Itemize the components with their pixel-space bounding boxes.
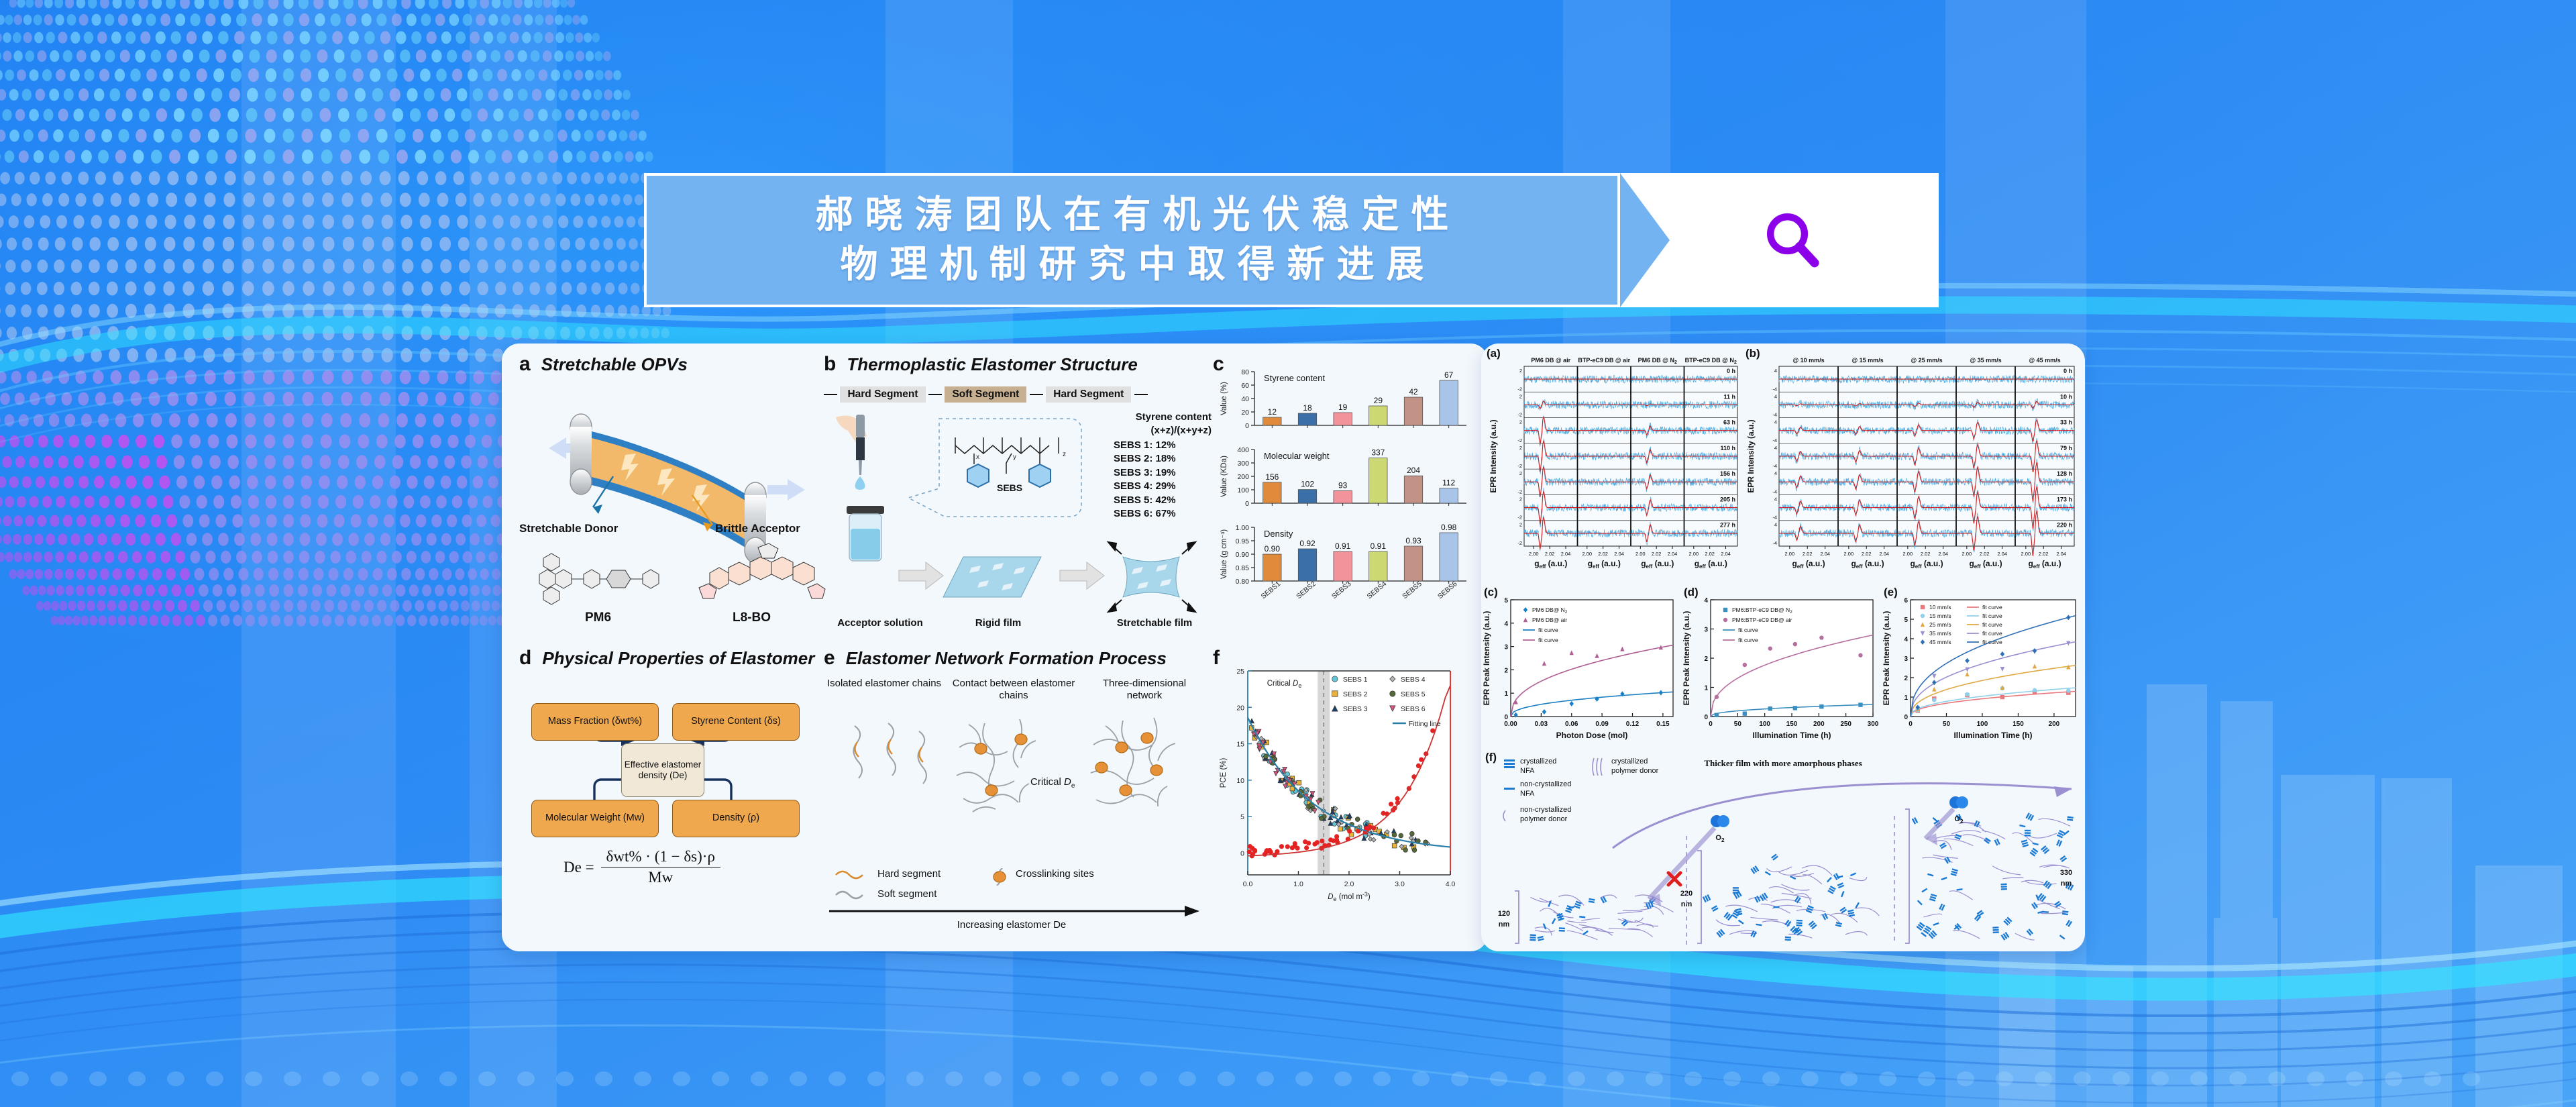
svg-text:2.04: 2.04 <box>1721 551 1731 557</box>
svg-text:3: 3 <box>1904 655 1908 663</box>
svg-text:2.02: 2.02 <box>1862 551 1872 557</box>
svg-text:SEBS 3: SEBS 3 <box>1343 705 1368 713</box>
svg-text:0: 0 <box>1245 500 1249 508</box>
svg-text:67: 67 <box>1444 370 1454 380</box>
svg-text:0.80: 0.80 <box>1236 578 1250 586</box>
svg-text:50: 50 <box>1734 721 1742 728</box>
svg-text:1.00: 1.00 <box>1236 524 1250 532</box>
svg-text:2.04: 2.04 <box>1561 551 1571 557</box>
svg-text:SEBS2: SEBS2 <box>1295 580 1318 600</box>
svg-text:63 h: 63 h <box>1723 419 1735 426</box>
svg-text:crystallized: crystallized <box>1611 757 1648 766</box>
svg-text:60: 60 <box>1241 382 1249 390</box>
svg-text:Illumination Time (h): Illumination Time (h) <box>1752 731 1831 740</box>
process-step-label: Stretchable film <box>1097 617 1212 629</box>
svg-text:fit curve: fit curve <box>1982 613 2002 619</box>
svg-text:0: 0 <box>1245 422 1249 430</box>
box-molecular-weight: Molecular Weight (Mw) <box>531 800 659 837</box>
svg-text:156: 156 <box>1265 472 1279 482</box>
svg-text:EPR Peak Intensity (a.u.): EPR Peak Intensity (a.u.) <box>1882 611 1891 706</box>
svg-text:277 h: 277 h <box>1720 522 1735 529</box>
svg-text:@ 25 mm/s: @ 25 mm/s <box>1911 357 1942 364</box>
panel-c-sebs-properties: c 020406080Value (%)Styrene content12181… <box>1213 353 1474 641</box>
svg-text:6: 6 <box>1904 597 1908 604</box>
legend-soft-segment: Soft segment <box>877 888 936 900</box>
svg-text:156 h: 156 h <box>1720 470 1735 477</box>
svg-text:2.02: 2.02 <box>1705 551 1715 557</box>
segment-dash-icon <box>1030 394 1043 395</box>
svg-text:-2: -2 <box>1517 488 1522 494</box>
svg-text:4: 4 <box>1904 636 1908 643</box>
svg-text:-4: -4 <box>1772 488 1777 494</box>
svg-text:1: 1 <box>1504 690 1508 698</box>
svg-text:SEBS5: SEBS5 <box>1401 580 1424 600</box>
svg-text:geff (a.u.): geff (a.u.) <box>2028 559 2061 570</box>
label-brittle-acceptor: Brittle Acceptor <box>715 522 836 535</box>
svg-text:BTP-eC9 DB @ air: BTP-eC9 DB @ air <box>1578 357 1630 364</box>
svg-text:2.00: 2.00 <box>1689 551 1699 557</box>
crosslinking-site-icon <box>990 868 1010 886</box>
svg-text:0.03: 0.03 <box>1535 721 1548 728</box>
svg-text:De (mol m-3): De (mol m-3) <box>1328 891 1371 902</box>
svg-text:4.0: 4.0 <box>1446 880 1456 888</box>
svg-text:EPR Peak Intensity (a.u.): EPR Peak Intensity (a.u.) <box>1682 611 1691 706</box>
svg-text:2.04: 2.04 <box>1614 551 1624 557</box>
svg-text:0: 0 <box>1240 849 1244 857</box>
figure-card-left: a Stretchable OPVs <box>502 344 1488 951</box>
svg-text:5: 5 <box>1240 813 1244 821</box>
network-stage-caption: Isolated elastomer chains <box>824 678 945 690</box>
svg-text:2.04: 2.04 <box>1668 551 1678 557</box>
svg-text:2.04: 2.04 <box>2056 551 2066 557</box>
svg-text:0.91: 0.91 <box>1335 541 1351 551</box>
svg-text:4: 4 <box>1774 522 1777 528</box>
svg-text:200: 200 <box>1237 473 1249 481</box>
segment-dash-icon <box>1134 394 1148 395</box>
svg-text:110 h: 110 h <box>1720 445 1735 452</box>
svg-text:0.98: 0.98 <box>1441 523 1457 532</box>
sebs-styrene-list: SEBS 1: 12% SEBS 2: 18% SEBS 3: 19% SEBS… <box>1114 439 1176 521</box>
svg-text:2: 2 <box>1519 419 1522 425</box>
title-line-2: 物理机制研究中取得新进展 <box>804 240 1461 290</box>
right-panel-c-photon-dose: (c)0.000.030.060.090.120.15012345Photon … <box>1481 585 1682 751</box>
svg-text:-2: -2 <box>1517 386 1522 392</box>
svg-text:0.95: 0.95 <box>1236 537 1250 545</box>
svg-text:(b): (b) <box>1746 347 1760 360</box>
box-effective-elastomer-density: Effective elastomer density (De) <box>621 743 704 797</box>
svg-text:NFA: NFA <box>1520 790 1535 798</box>
svg-text:300: 300 <box>1868 721 1879 728</box>
svg-text:4: 4 <box>1774 393 1777 399</box>
svg-text:2.00: 2.00 <box>1903 551 1913 557</box>
svg-text:(d): (d) <box>1684 586 1699 598</box>
svg-text:@ 15 mm/s: @ 15 mm/s <box>1851 357 1883 364</box>
svg-text:SEBS3: SEBS3 <box>1330 580 1353 600</box>
panel-e-letter: e <box>824 647 835 670</box>
svg-text:fit curve: fit curve <box>1738 637 1758 643</box>
svg-text:Value (%): Value (%) <box>1220 382 1228 415</box>
svg-text:2.04: 2.04 <box>1820 551 1830 557</box>
svg-text:2: 2 <box>1519 368 1522 374</box>
right-panel-b-epr-grid: (b)@ 10 mm/s@ 15 mm/s@ 25 mm/s@ 35 mm/s@… <box>1744 345 2084 588</box>
svg-text:1: 1 <box>1904 694 1908 702</box>
svg-text:2.02: 2.02 <box>1652 551 1662 557</box>
equation-de: De = δwt% · (1 − δs)·ρ Mw <box>563 848 720 886</box>
svg-text:12: 12 <box>1268 407 1277 417</box>
svg-text:2.02: 2.02 <box>1980 551 1990 557</box>
svg-text:0.15: 0.15 <box>1656 721 1670 728</box>
svg-text:0: 0 <box>1504 714 1508 721</box>
svg-text:4: 4 <box>1774 496 1777 502</box>
svg-text:4: 4 <box>1774 368 1777 374</box>
svg-text:25: 25 <box>1236 668 1244 676</box>
svg-text:-4: -4 <box>1772 386 1777 392</box>
sebs-list-item: SEBS 5: 42% <box>1114 494 1176 507</box>
molecule-structures <box>519 538 835 625</box>
title-banner: 郝晓涛团队在有机光伏稳定性 物理机制研究中取得新进展 <box>644 173 1939 307</box>
svg-text:112: 112 <box>1442 478 1455 488</box>
svg-text:PM6:BTP-eC9 DB@ air: PM6:BTP-eC9 DB@ air <box>1732 617 1792 623</box>
svg-text:y: y <box>1013 454 1016 461</box>
svg-text:29: 29 <box>1374 396 1383 405</box>
svg-text:45 mm/s: 45 mm/s <box>1929 639 1951 645</box>
svg-text:0.85: 0.85 <box>1236 564 1250 572</box>
svg-text:4: 4 <box>1504 621 1508 628</box>
panel-a-title: Stretchable OPVs <box>541 354 688 375</box>
svg-text:0: 0 <box>1904 714 1908 721</box>
label-pm6: PM6 <box>585 611 611 625</box>
label-l8bo: L8-BO <box>733 611 771 625</box>
svg-text:geff (a.u.): geff (a.u.) <box>1588 559 1621 570</box>
right-panel-a-epr-grid: (a)PM6 DB @ airBTP-eC9 DB @ airPM6 DB @ … <box>1484 345 1746 588</box>
right-panel-d-illumination: (d)05010015020025030001234Illumination T… <box>1681 585 1882 751</box>
svg-text:2: 2 <box>1904 675 1908 682</box>
svg-text:35 mm/s: 35 mm/s <box>1929 630 1951 637</box>
svg-text:crystallized: crystallized <box>1520 757 1556 766</box>
svg-text:O2: O2 <box>1715 834 1725 843</box>
svg-text:0.90: 0.90 <box>1236 551 1250 559</box>
svg-text:50: 50 <box>1943 721 1951 728</box>
network-stage-caption: Contact between elastomer chains <box>950 678 1077 702</box>
panel-c-bar-charts: 020406080Value (%)Styrene content1218192… <box>1217 368 1472 636</box>
label-stretchable-donor: Stretchable Donor <box>519 522 647 535</box>
box-density: Density (ρ) <box>672 800 800 837</box>
svg-text:1: 1 <box>1704 685 1708 692</box>
svg-text:150: 150 <box>2012 721 2024 728</box>
svg-text:2.02: 2.02 <box>1545 551 1555 557</box>
svg-text:250: 250 <box>1840 721 1851 728</box>
svg-text:18: 18 <box>1303 403 1312 413</box>
svg-text:-2: -2 <box>1517 437 1522 443</box>
svg-text:4: 4 <box>1704 597 1708 604</box>
panel-b-letter: b <box>824 353 836 376</box>
svg-text:2.00: 2.00 <box>2021 551 2031 557</box>
svg-text:Thicker film with more amorpho: Thicker film with more amorphous phases <box>1704 758 1862 768</box>
svg-text:11 h: 11 h <box>1723 393 1735 400</box>
styrene-head-line1: Styrene content <box>1092 411 1212 424</box>
process-step-label: Rigid film <box>951 617 1045 629</box>
svg-text:z: z <box>1063 451 1066 458</box>
right-panel-f-film-schematic: (f)crystallizedNFAnon-crystallizedNFAnon… <box>1481 749 2085 950</box>
svg-text:-4: -4 <box>1772 412 1777 418</box>
soft-segment-icon <box>836 892 863 898</box>
svg-text:2: 2 <box>1519 470 1522 476</box>
svg-text:2.04: 2.04 <box>1997 551 2007 557</box>
svg-text:5: 5 <box>1504 597 1508 604</box>
search-icon[interactable] <box>1762 209 1825 272</box>
svg-text:120: 120 <box>1498 910 1510 918</box>
svg-text:150: 150 <box>1786 721 1798 728</box>
svg-text:2.02: 2.02 <box>1921 551 1931 557</box>
svg-text:2.0: 2.0 <box>1344 880 1354 888</box>
svg-text:nm: nm <box>1499 920 1510 929</box>
svg-text:19: 19 <box>1338 403 1348 412</box>
svg-text:fit curve: fit curve <box>1982 639 2002 645</box>
segment-legend-icons <box>833 867 880 907</box>
svg-text:Critical De: Critical De <box>1267 680 1302 689</box>
svg-text:SEBS 2: SEBS 2 <box>1343 690 1368 698</box>
sebs-list-item: SEBS 6: 67% <box>1114 507 1176 521</box>
svg-text:geff (a.u.): geff (a.u.) <box>1792 559 1825 570</box>
panel-a-stretchable-opvs: a Stretchable OPVs <box>519 353 835 641</box>
panel-b-thermoplastic-elastomer: b Thermoplastic Elastomer Structure Hard… <box>824 353 1213 641</box>
svg-text:Value (g cm⁻³): Value (g cm⁻³) <box>1220 529 1228 579</box>
panel-e-network-graphic: Critical De <box>824 711 1213 879</box>
svg-text:Illumination Time (h): Illumination Time (h) <box>1953 731 2032 740</box>
svg-text:300: 300 <box>1237 460 1249 468</box>
svg-text:geff (a.u.): geff (a.u.) <box>1851 559 1884 570</box>
svg-text:geff (a.u.): geff (a.u.) <box>1969 559 2002 570</box>
svg-text:100: 100 <box>1759 721 1770 728</box>
svg-text:0.90: 0.90 <box>1265 544 1281 553</box>
legend-hard-segment: Hard segment <box>877 868 941 880</box>
svg-text:Styrene content: Styrene content <box>1264 373 1325 383</box>
svg-text:330: 330 <box>2060 869 2072 877</box>
svg-text:EPR Intensity (a.u.): EPR Intensity (a.u.) <box>1746 419 1756 492</box>
svg-text:10: 10 <box>1236 777 1244 785</box>
svg-text:non-crystallized: non-crystallized <box>1520 780 1571 788</box>
svg-text:(f): (f) <box>1485 751 1497 763</box>
sebs-list-item: SEBS 4: 29% <box>1114 480 1176 493</box>
segment-chain: Hard Segment Soft Segment Hard Segment <box>824 386 1148 403</box>
banner-icon-box <box>1620 173 1939 307</box>
svg-text:0.06: 0.06 <box>1565 721 1578 728</box>
svg-text:100: 100 <box>1977 721 1988 728</box>
svg-text:0.0: 0.0 <box>1243 880 1253 888</box>
svg-text:205 h: 205 h <box>1720 496 1735 503</box>
sebs-list-item: SEBS 3: 19% <box>1114 466 1176 480</box>
svg-text:3: 3 <box>1504 644 1508 651</box>
panel-e-network-formation: e Elastomer Network Formation Process Is… <box>824 647 1213 942</box>
svg-text:2.02: 2.02 <box>1598 551 1608 557</box>
process-step-label: Acceptor solution <box>820 617 941 629</box>
styrene-content-heading: Styrene content (x+z)/(x+y+z) <box>1092 411 1212 437</box>
svg-text:173 h: 173 h <box>2057 496 2072 503</box>
svg-text:O2: O2 <box>1954 815 1964 825</box>
styrene-head-line2: (x+z)/(x+y+z) <box>1092 424 1212 437</box>
panel-d-title: Physical Properties of Elastomer <box>542 648 814 669</box>
figure-card-right: (a)PM6 DB @ airBTP-eC9 DB @ airPM6 DB @ … <box>1481 344 2085 951</box>
segment-hard-left: Hard Segment <box>840 386 925 403</box>
svg-text:20: 20 <box>1241 409 1249 417</box>
svg-text:Fitting line: Fitting line <box>1409 720 1441 728</box>
svg-text:fit curve: fit curve <box>1538 627 1558 633</box>
svg-text:2.02: 2.02 <box>1803 551 1813 557</box>
sebs-list-item: SEBS 1: 12% <box>1114 439 1176 452</box>
svg-text:0.00: 0.00 <box>1504 721 1517 728</box>
svg-text:128 h: 128 h <box>2057 470 2072 477</box>
svg-text:-2: -2 <box>1517 515 1522 521</box>
svg-text:fit curve: fit curve <box>1738 627 1758 633</box>
hard-segment-icon <box>836 872 863 878</box>
svg-text:fit curve: fit curve <box>1982 621 2002 628</box>
svg-text:2.04: 2.04 <box>1938 551 1948 557</box>
svg-text:0 h: 0 h <box>2063 368 2072 374</box>
svg-text:0 h: 0 h <box>1727 368 1735 374</box>
svg-text:2.00: 2.00 <box>1785 551 1795 557</box>
svg-text:2.00: 2.00 <box>1635 551 1646 557</box>
panel-d-letter: d <box>519 647 531 670</box>
svg-text:0: 0 <box>1704 714 1708 721</box>
svg-text:Value (KDa): Value (KDa) <box>1220 456 1228 497</box>
right-panel-e-speeds: (e)0501001502000123456Illumination Time … <box>1881 585 2085 751</box>
svg-text:SEBS 5: SEBS 5 <box>1401 690 1426 698</box>
equation-numerator: δwt% · (1 − δs)·ρ <box>601 848 720 867</box>
svg-text:BTP-eC9 DB @ N2: BTP-eC9 DB @ N2 <box>1685 357 1737 365</box>
svg-text:Critical De: Critical De <box>1030 776 1075 790</box>
svg-text:@ 10 mm/s: @ 10 mm/s <box>1792 357 1824 364</box>
svg-text:Photon Dose (mol): Photon Dose (mol) <box>1556 731 1628 740</box>
svg-text:SEBS 1: SEBS 1 <box>1343 676 1368 684</box>
box-styrene-content: Styrene Content (δs) <box>672 703 800 741</box>
svg-text:geff (a.u.): geff (a.u.) <box>1695 559 1727 570</box>
title-line-1: 郝晓涛团队在有机光伏稳定性 <box>804 191 1461 240</box>
svg-text:25 mm/s: 25 mm/s <box>1929 621 1951 628</box>
chevron-left-icon <box>1620 173 1670 307</box>
segment-dash-icon <box>928 394 942 395</box>
svg-text:polymer donor: polymer donor <box>1611 767 1659 775</box>
svg-text:PM6 DB@ air: PM6 DB@ air <box>1532 617 1567 623</box>
svg-text:2: 2 <box>1504 667 1508 674</box>
svg-text:4: 4 <box>1774 419 1777 425</box>
network-stage-caption: Three-dimensional network <box>1084 678 1205 702</box>
box-mass-fraction: Mass Fraction (δwt%) <box>531 703 659 741</box>
svg-text:3.0: 3.0 <box>1395 880 1405 888</box>
svg-text:40: 40 <box>1241 395 1249 403</box>
svg-text:42: 42 <box>1409 387 1418 397</box>
svg-text:Molecular weight: Molecular weight <box>1264 451 1330 461</box>
svg-text:SEBS6: SEBS6 <box>1436 580 1459 600</box>
svg-text:15: 15 <box>1236 741 1244 749</box>
svg-text:SEBS1: SEBS1 <box>1260 580 1283 600</box>
panel-b-title: Thermoplastic Elastomer Structure <box>847 354 1137 375</box>
svg-text:SEBS 6: SEBS 6 <box>1401 705 1426 713</box>
svg-text:400: 400 <box>1237 446 1249 454</box>
panel-f-scatter-plot: 05101520250.01.02.03.04.0PCE (%)De (mol … <box>1217 660 1472 929</box>
svg-text:5: 5 <box>1904 617 1908 624</box>
panel-e-title: Elastomer Network Formation Process <box>846 648 1167 669</box>
svg-text:10 h: 10 h <box>2060 393 2072 400</box>
svg-text:2.00: 2.00 <box>1962 551 1972 557</box>
svg-text:220 h: 220 h <box>2057 522 2072 529</box>
svg-text:0.09: 0.09 <box>1595 721 1609 728</box>
svg-text:PCE (%): PCE (%) <box>1220 757 1228 788</box>
svg-text:20: 20 <box>1236 704 1244 712</box>
svg-text:geff (a.u.): geff (a.u.) <box>1534 559 1567 570</box>
svg-text:2: 2 <box>1519 522 1522 528</box>
page-title: 郝晓涛团队在有机光伏稳定性 物理机制研究中取得新进展 <box>804 191 1461 290</box>
svg-text:fit curve: fit curve <box>1982 604 2002 611</box>
svg-text:102: 102 <box>1301 480 1314 489</box>
svg-text:SEBS4: SEBS4 <box>1366 580 1389 600</box>
equation-denominator: Mw <box>601 867 720 886</box>
svg-text:(e): (e) <box>1884 586 1898 598</box>
segment-soft: Soft Segment <box>945 386 1026 403</box>
svg-text:0: 0 <box>1909 721 1913 728</box>
svg-text:79 h: 79 h <box>2060 445 2072 452</box>
equation-lhs: De = <box>563 859 594 876</box>
svg-text:@ 35 mm/s: @ 35 mm/s <box>1970 357 2001 364</box>
banner-title-box: 郝晓涛团队在有机光伏稳定性 物理机制研究中取得新进展 <box>644 173 1620 307</box>
svg-text:2.00: 2.00 <box>1582 551 1593 557</box>
sebs-list-item: SEBS 2: 18% <box>1114 452 1176 466</box>
svg-text:2.04: 2.04 <box>1879 551 1889 557</box>
svg-text:x: x <box>976 454 979 461</box>
segment-dash-icon <box>824 394 837 395</box>
svg-text:4: 4 <box>1774 445 1777 451</box>
panel-a-letter: a <box>519 353 531 376</box>
svg-text:4: 4 <box>1774 470 1777 476</box>
svg-text:geff (a.u.): geff (a.u.) <box>1641 559 1674 570</box>
svg-text:-4: -4 <box>1772 463 1777 469</box>
svg-text:Density: Density <box>1264 529 1293 539</box>
svg-text:0.93: 0.93 <box>1405 536 1421 545</box>
svg-text:PM6 DB @ N2: PM6 DB @ N2 <box>1638 357 1677 365</box>
svg-text:80: 80 <box>1241 368 1249 376</box>
svg-text:2.00: 2.00 <box>1844 551 1854 557</box>
svg-text:-2: -2 <box>1517 412 1522 418</box>
svg-text:(c): (c) <box>1484 586 1498 598</box>
svg-text:200: 200 <box>1813 721 1825 728</box>
sebs-polymer-label: SEBS <box>997 482 1022 493</box>
svg-text:-2: -2 <box>1517 463 1522 469</box>
svg-text:1.0: 1.0 <box>1293 880 1303 888</box>
svg-text:NFA: NFA <box>1520 767 1535 775</box>
increasing-de-arrow <box>829 904 1205 918</box>
svg-text:0.92: 0.92 <box>1299 539 1316 548</box>
panel-d-physical-properties: d Physical Properties of Elastomer Mass … <box>519 647 835 942</box>
svg-text:100: 100 <box>1237 486 1249 494</box>
increasing-de-caption: Increasing elastomer De <box>824 919 1199 931</box>
svg-text:0.12: 0.12 <box>1626 721 1640 728</box>
svg-text:-2: -2 <box>1517 540 1522 546</box>
svg-text:-4: -4 <box>1772 515 1777 521</box>
svg-text:10 mm/s: 10 mm/s <box>1929 604 1951 611</box>
svg-text:2.00: 2.00 <box>1529 551 1539 557</box>
svg-text:@ 45 mm/s: @ 45 mm/s <box>2029 357 2060 364</box>
svg-text:2: 2 <box>1519 496 1522 502</box>
svg-text:-4: -4 <box>1772 540 1777 546</box>
svg-text:EPR Peak Intensity (a.u.): EPR Peak Intensity (a.u.) <box>1482 611 1491 706</box>
svg-text:fit curve: fit curve <box>1538 637 1558 643</box>
svg-text:non-crystallized: non-crystallized <box>1520 806 1571 814</box>
svg-text:2.02: 2.02 <box>2039 551 2049 557</box>
svg-text:PM6 DB @ air: PM6 DB @ air <box>1531 357 1570 364</box>
svg-text:0.91: 0.91 <box>1371 541 1387 551</box>
svg-text:0: 0 <box>1709 721 1713 728</box>
svg-text:fit curve: fit curve <box>1982 630 2002 637</box>
svg-text:2: 2 <box>1704 655 1708 663</box>
